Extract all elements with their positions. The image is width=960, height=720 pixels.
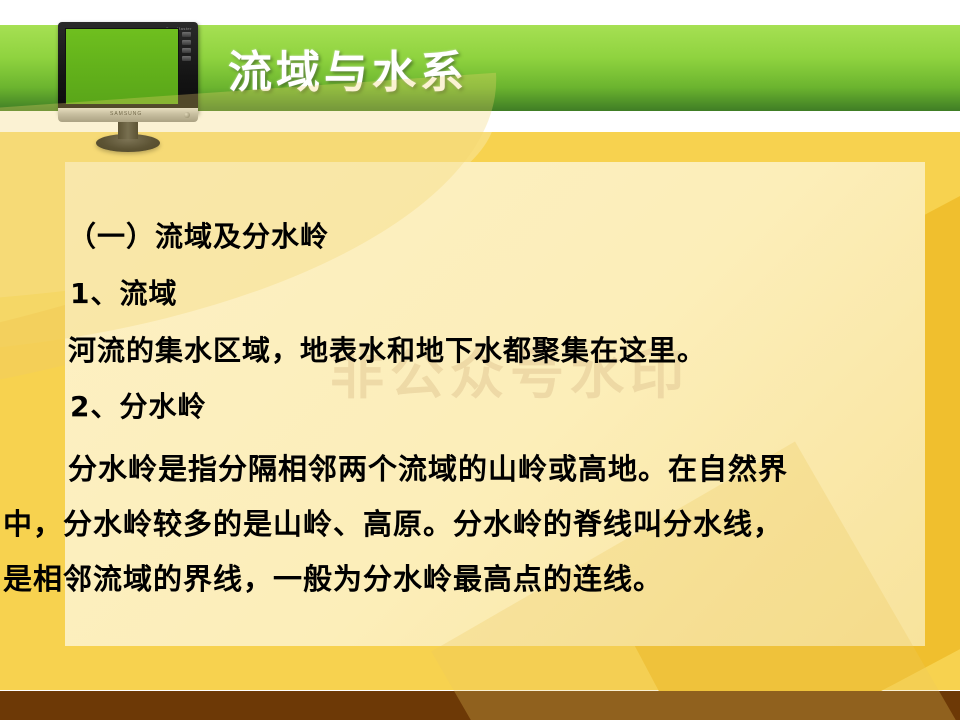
body-line-paragraph-1: 分水岭是指分隔相邻两个流域的山岭或高地。在自然界 bbox=[68, 446, 788, 488]
presentation-slide: 流域与水系 SyncMaster SAMSUNG 非公众号水印 （一）流域及分水… bbox=[0, 0, 960, 720]
body-line-heading-3: 2、分水岭 bbox=[70, 385, 206, 425]
body-line-paragraph-2: 中，分水岭较多的是山岭、高原。分水岭的脊线叫分水线， bbox=[3, 501, 783, 543]
slide-body-text: （一）流域及分水岭 1、流域 河流的集水区域，地表水和地下水都聚集在这里。 2、… bbox=[0, 0, 860, 484]
body-line-heading-2: 1、流域 bbox=[70, 272, 177, 312]
body-line-heading-1: （一）流域及分水岭 bbox=[68, 215, 329, 255]
body-line-paragraph-3: 是相邻流域的界线，一般为分水岭最高点的连线。 bbox=[3, 556, 663, 598]
body-line-definition-1: 河流的集水区域，地表水和地下水都聚集在这里。 bbox=[68, 329, 706, 369]
